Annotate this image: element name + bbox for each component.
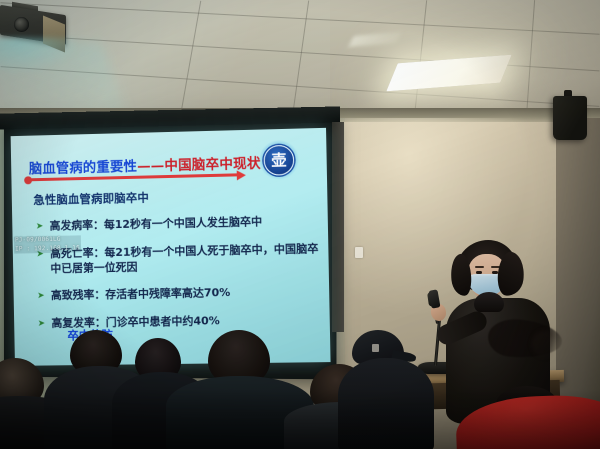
logo-glyph: 壶 bbox=[264, 146, 293, 175]
slide-title-dash: —— bbox=[137, 158, 165, 175]
presenter-hair-wisp bbox=[532, 330, 562, 358]
slide-subtitle: 急性脑血管病即脑卒中 bbox=[33, 189, 149, 208]
list-item: ➤ 高发病率：每12秒有一个中国人发生脑卒中 bbox=[36, 213, 324, 234]
projector-osd-overlay: PJ-09/0061LG IP : 192.168.1.16 bbox=[14, 235, 81, 253]
title-arrow-dot bbox=[24, 176, 32, 184]
slide-title-main: 脑血管病的重要性 bbox=[29, 159, 138, 178]
bullet-marker-icon: ➤ bbox=[37, 289, 45, 304]
wall-mounted-loudspeaker bbox=[553, 96, 587, 140]
presenter-eyebrow bbox=[475, 266, 484, 268]
presenter-collar bbox=[474, 292, 504, 312]
list-item-text: 高发病率：每12秒有一个中国人发生脑卒中 bbox=[50, 215, 263, 232]
presentation-remote-clicker[interactable] bbox=[429, 289, 441, 308]
ceiling-light-reflection bbox=[349, 32, 402, 47]
projector-lens bbox=[14, 17, 29, 32]
bullet-marker-icon: ➤ bbox=[38, 316, 46, 331]
foreground-shadow bbox=[0, 389, 600, 449]
projector-osd-ip: IP : 192.168.1.16 bbox=[14, 244, 81, 254]
list-item: ➤ 高致残率：存活者中残障率高达70% bbox=[37, 283, 325, 303]
recessed-ceiling-light-panel bbox=[386, 55, 511, 92]
cap-logo-patch bbox=[372, 344, 379, 352]
lecture-room-photo: 壶 脑血管病的重要性——中国脑卒中现状 急性脑血管病即脑卒中 ➤ 高发病率：每1… bbox=[0, 0, 600, 449]
wall-light-switch[interactable] bbox=[355, 247, 363, 258]
list-item-text: 高死亡率：每21秒有一个中国人死于脑卒中，中国脑卒中已居第一位死因 bbox=[50, 242, 319, 275]
slide-bullet-list: ➤ 高发病率：每12秒有一个中国人发生脑卒中 ➤ 高死亡率：每21秒有一个中国人… bbox=[36, 213, 326, 343]
ceiling-tile-seam bbox=[526, 0, 535, 118]
list-item-text: 高致残率：存活者中残障率高达70% bbox=[51, 286, 231, 302]
logo-disc: 壶 bbox=[263, 145, 294, 176]
institution-circular-logo: 壶 bbox=[254, 137, 303, 183]
bullet-marker-icon: ➤ bbox=[36, 220, 44, 235]
projection-screen-right-edge bbox=[332, 122, 344, 332]
slide-title-highlight: 中国脑卒中现状 bbox=[164, 156, 261, 174]
